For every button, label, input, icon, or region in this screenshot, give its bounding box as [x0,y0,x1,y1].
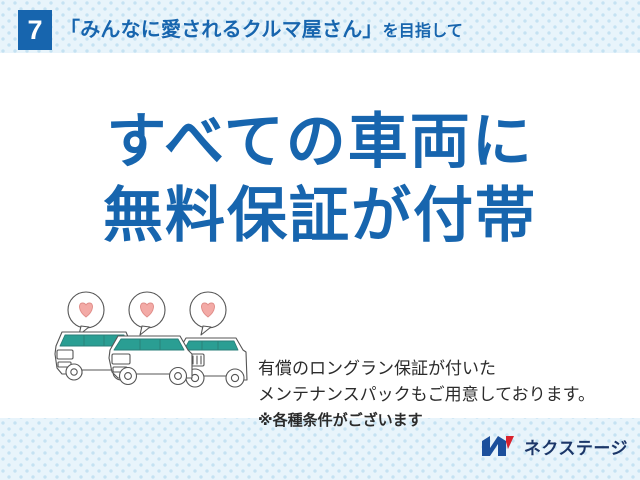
heart-bubble-2 [129,292,165,335]
body-copy-line-1: 有償のロングラン保証が付いた [258,356,630,382]
heart-bubble-1 [68,292,104,335]
car-minivan [109,336,192,385]
header-title: 「みんなに愛されるクルマ屋さん」を目指して [60,12,463,48]
headline-line-1: すべての車両に [0,105,640,179]
footer-bar: ネクステージ [0,418,640,480]
header-title-suffix: を目指して [383,23,464,40]
promo-banner: 7 「みんなに愛されるクルマ屋さん」を目指して すべての車両に 無料保証が付帯 [0,0,640,480]
headline-block: すべての車両に 無料保証が付帯 [0,105,640,253]
heart-bubble-3 [190,292,226,335]
section-number-badge: 7 [18,10,52,50]
brand-logo: ネクステージ [480,432,628,460]
header-bar: 7 「みんなに愛されるクルマ屋さん」を目指して [0,0,640,53]
three-cars-with-heart-speech-bubbles-illustration [52,288,252,403]
nextage-n-mark-icon [480,434,516,458]
content-panel: すべての車両に 無料保証が付帯 [0,53,640,418]
headline-line-2: 無料保証が付帯 [0,179,640,253]
brand-name: ネクステージ [524,434,628,459]
header-title-quoted: 「みんなに愛されるクルマ屋さん」 [60,19,383,41]
body-copy-line-2: メンテナンスパックもご用意しております。 [258,382,630,408]
lower-content: 有償のロングラン保証が付いた メンテナンスパックもご用意しております。 ※各種条… [0,288,640,408]
